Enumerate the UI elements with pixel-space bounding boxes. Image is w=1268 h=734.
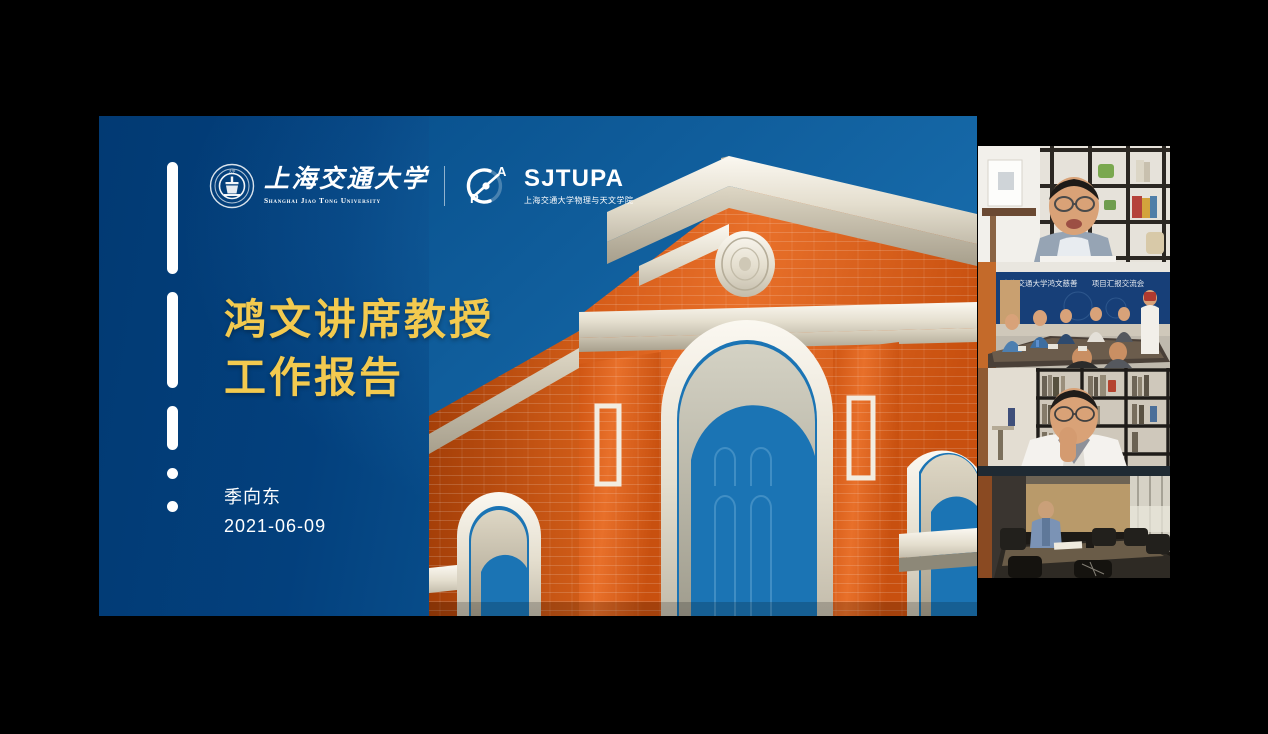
decor-bar-3 [167,406,178,450]
department-wordmark: SJTUPA 上海交通大学物理与天文学院 [524,167,633,206]
slide-title: 鸿文讲席教授 工作报告 [224,291,494,407]
sjtu-wordmark: 上海交通大学 Shanghai Jiao Tong University [264,167,429,204]
participant-tile-3[interactable] [978,368,1170,476]
date-row: 2021-06-09 [224,511,326,541]
presentation-date: 2021-06-09 [224,516,326,537]
decor-dot-1 [167,468,178,479]
decor-bar-2 [167,292,178,388]
title-line-1: 鸿文讲席教授 [224,291,494,349]
logo-lockup: 大学 上海交通大学 Shanghai Jiao Tong University … [209,158,633,214]
decorative-bars [167,162,183,534]
atom-orbit-icon: P A [460,163,516,209]
participant-video-panel: 上海交通大学鸿文慈善 项目汇报交流会 [978,146,1170,578]
orbit-letter-a: A [497,164,507,179]
university-name-en: Shanghai Jiao Tong University [264,196,429,205]
department-subtitle: 上海交通大学物理与天文学院 [524,195,633,206]
department-acronym: SJTUPA [524,167,633,191]
screen-root: 大学 上海交通大学 Shanghai Jiao Tong University … [0,0,1268,734]
participant-tile-2[interactable]: 上海交通大学鸿文慈善 项目汇报交流会 [978,262,1170,368]
university-name-cn: 上海交通大学 [264,167,429,193]
slide-meta: 季向东 2021-06-09 [224,481,326,541]
participant-tile-1[interactable] [978,146,1170,262]
logo-divider [444,166,445,206]
presenter-row: 季向东 [224,481,326,511]
presenter-name: 季向东 [224,483,281,509]
decor-dot-2 [167,501,178,512]
sjtu-seal-icon: 大学 [209,163,255,209]
svg-text:大学: 大学 [229,169,236,174]
orbit-letter-p: P [470,191,479,206]
presentation-slide: 大学 上海交通大学 Shanghai Jiao Tong University … [99,116,977,616]
participant-tile-4[interactable] [978,476,1170,578]
decor-bar-1 [167,162,178,274]
title-line-2: 工作报告 [224,349,494,407]
svg-text:项目汇报交流会: 项目汇报交流会 [1092,278,1145,288]
